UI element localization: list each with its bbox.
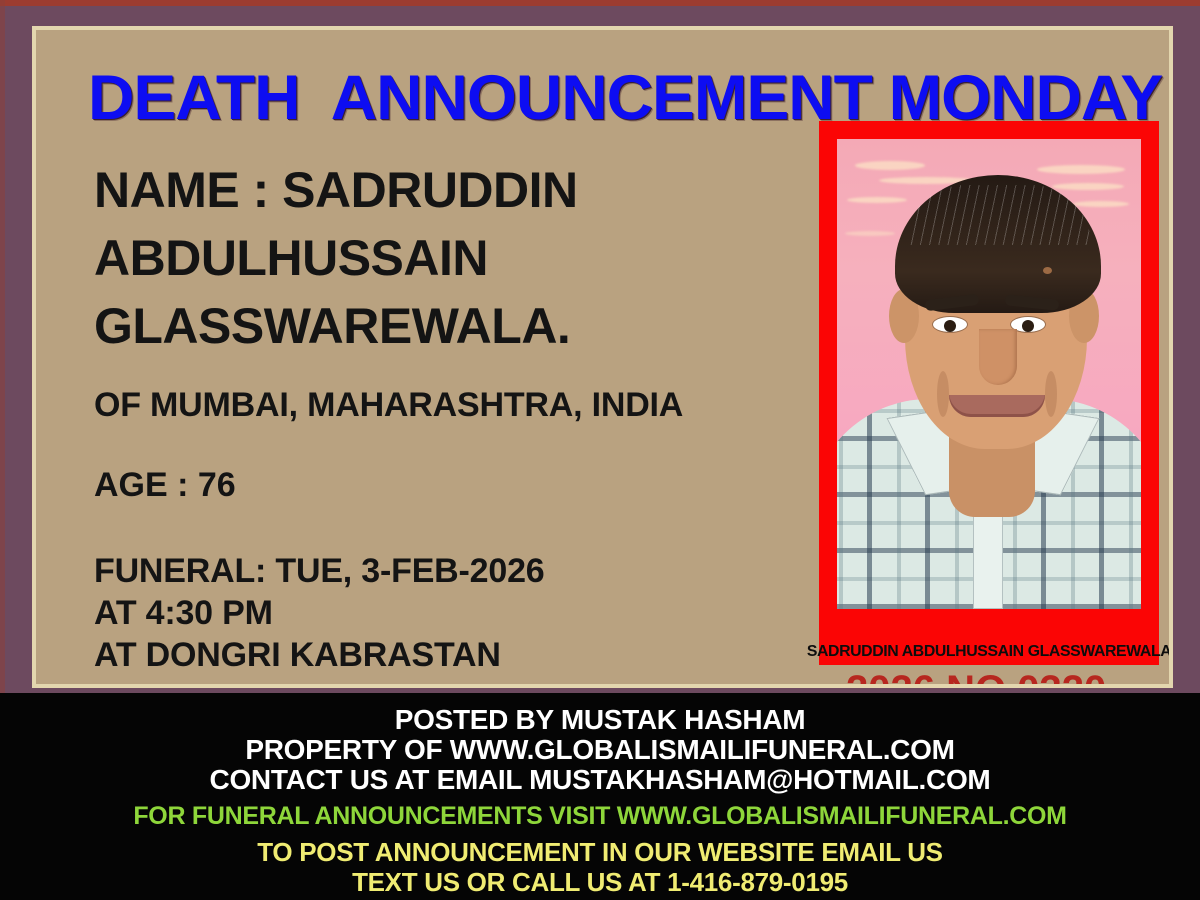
footer-post-announcement: TO POST ANNOUNCEMENT IN OUR WEBSITE EMAI…: [0, 837, 1200, 867]
cloud-icon: [845, 231, 895, 236]
reference-number: 2026 NO.0320: [846, 668, 1106, 688]
announcement-card: DEATH ANNOUNCEMENT MONDAY 2-FEB-2026 NAM…: [32, 26, 1173, 688]
footer-contact-email: CONTACT US AT EMAIL MUSTAKHASHAM@HOTMAIL…: [0, 765, 1200, 795]
deceased-age: AGE : 76: [94, 465, 236, 505]
smile-line-right: [1045, 371, 1057, 417]
cloud-icon: [1052, 183, 1124, 190]
nose: [979, 329, 1017, 385]
hair: [895, 175, 1101, 313]
mole: [1043, 267, 1052, 274]
cloud-icon: [1037, 165, 1125, 174]
left-border-strip: [0, 0, 5, 693]
footer-property-of: PROPERTY OF WWW.GLOBALISMAILIFUNERAL.COM: [0, 735, 1200, 765]
smile-line-left: [937, 371, 949, 417]
footer-phone-line: TEXT US OR CALL US AT 1-416-879-0195: [0, 867, 1200, 897]
deceased-city: OF MUMBAI, MAHARASHTRA, INDIA: [94, 385, 854, 425]
mouth: [949, 395, 1045, 417]
cloud-icon: [1073, 201, 1129, 207]
eye-left: [933, 317, 967, 332]
portrait-caption-text: SADRUDDIN ABDULHUSSAIN GLASSWAREWALA: [807, 643, 1171, 661]
footer-posted-by: POSTED BY MUSTAK HASHAM: [0, 705, 1200, 735]
death-announcement-poster: DEATH ANNOUNCEMENT MONDAY 2-FEB-2026 NAM…: [0, 0, 1200, 900]
footer-band: POSTED BY MUSTAK HASHAM PROPERTY OF WWW.…: [0, 693, 1200, 900]
deceased-name: NAME : SADRUDDIN ABDULHUSSAIN GLASSWAREW…: [94, 156, 834, 360]
portrait-caption-bar: SADRUDDIN ABDULHUSSAIN GLASSWAREWALA: [819, 639, 1159, 665]
funeral-details: FUNERAL: TUE, 3-FEB-2026 AT 4:30 PM AT D…: [94, 550, 854, 676]
pupil-left: [944, 320, 956, 332]
top-border-strip: [0, 0, 1200, 6]
footer-announcements-visit: FOR FUNERAL ANNOUNCEMENTS VISIT WWW.GLOB…: [0, 801, 1200, 831]
portrait-photo: [837, 139, 1141, 609]
cloud-icon: [855, 161, 925, 170]
portrait-frame: [819, 121, 1159, 639]
pupil-right: [1022, 320, 1034, 332]
cloud-icon: [847, 197, 907, 203]
